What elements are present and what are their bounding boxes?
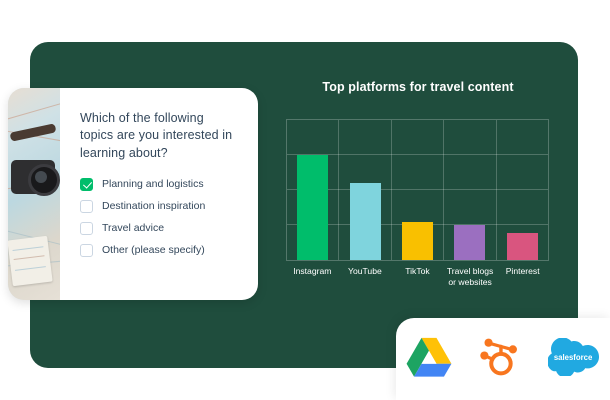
checkbox-travel-advice[interactable] — [80, 222, 93, 235]
bar-tiktok[interactable] — [402, 222, 433, 260]
checkbox-planning-and-logistics[interactable] — [80, 178, 93, 191]
survey-question: Which of the following topics are you in… — [80, 110, 240, 162]
survey-option-other[interactable]: Other (please specify) — [80, 244, 240, 257]
bar-instagram[interactable] — [297, 155, 328, 260]
x-label-tiktok: TikTok — [391, 266, 444, 287]
x-label-travel-blogs-or-websites: Travel blogs or websites — [444, 266, 497, 287]
chart-title: Top platforms for travel content — [283, 80, 553, 94]
camera-lens-inner — [35, 171, 47, 183]
survey-option-destination-inspiration[interactable]: Destination inspiration — [80, 200, 240, 213]
chart-column — [444, 120, 496, 260]
chart-x-axis-labels: Instagram YouTube TikTok Travel blogs or… — [286, 266, 549, 287]
checkbox-other[interactable] — [80, 244, 93, 257]
bar-pinterest[interactable] — [507, 233, 538, 260]
survey-option-planning-and-logistics[interactable]: Planning and logistics — [80, 178, 240, 191]
chart-plot-area — [286, 119, 549, 261]
checkbox-destination-inspiration[interactable] — [80, 200, 93, 213]
survey-option-label: Destination inspiration — [102, 200, 205, 212]
chart-panel: Top platforms for travel content Instagr… — [283, 80, 553, 305]
chart-column — [339, 120, 391, 260]
x-label-instagram: Instagram — [286, 266, 339, 287]
survey-option-label: Other (please specify) — [102, 244, 205, 256]
svg-text:salesforce: salesforce — [554, 352, 593, 361]
bar-youtube[interactable] — [350, 183, 381, 260]
survey-body: Which of the following topics are you in… — [60, 88, 258, 300]
chart-column — [287, 120, 339, 260]
salesforce-logo[interactable]: salesforce — [548, 338, 600, 381]
travel-photo — [8, 88, 60, 300]
x-label-youtube: YouTube — [339, 266, 392, 287]
hubspot-logo[interactable] — [480, 336, 520, 382]
bar-travel-blogs-or-websites[interactable] — [454, 225, 485, 260]
integration-logos-card: salesforce — [396, 318, 610, 400]
survey-option-travel-advice[interactable]: Travel advice — [80, 222, 240, 235]
survey-option-label: Travel advice — [102, 222, 164, 234]
x-label-pinterest: Pinterest — [496, 266, 549, 287]
paper-map-scrap — [8, 236, 53, 287]
survey-option-label: Planning and logistics — [102, 178, 204, 190]
survey-card: Which of the following topics are you in… — [8, 88, 258, 300]
chart-column — [392, 120, 444, 260]
chart-column — [497, 120, 548, 260]
google-drive-logo[interactable] — [406, 336, 452, 382]
